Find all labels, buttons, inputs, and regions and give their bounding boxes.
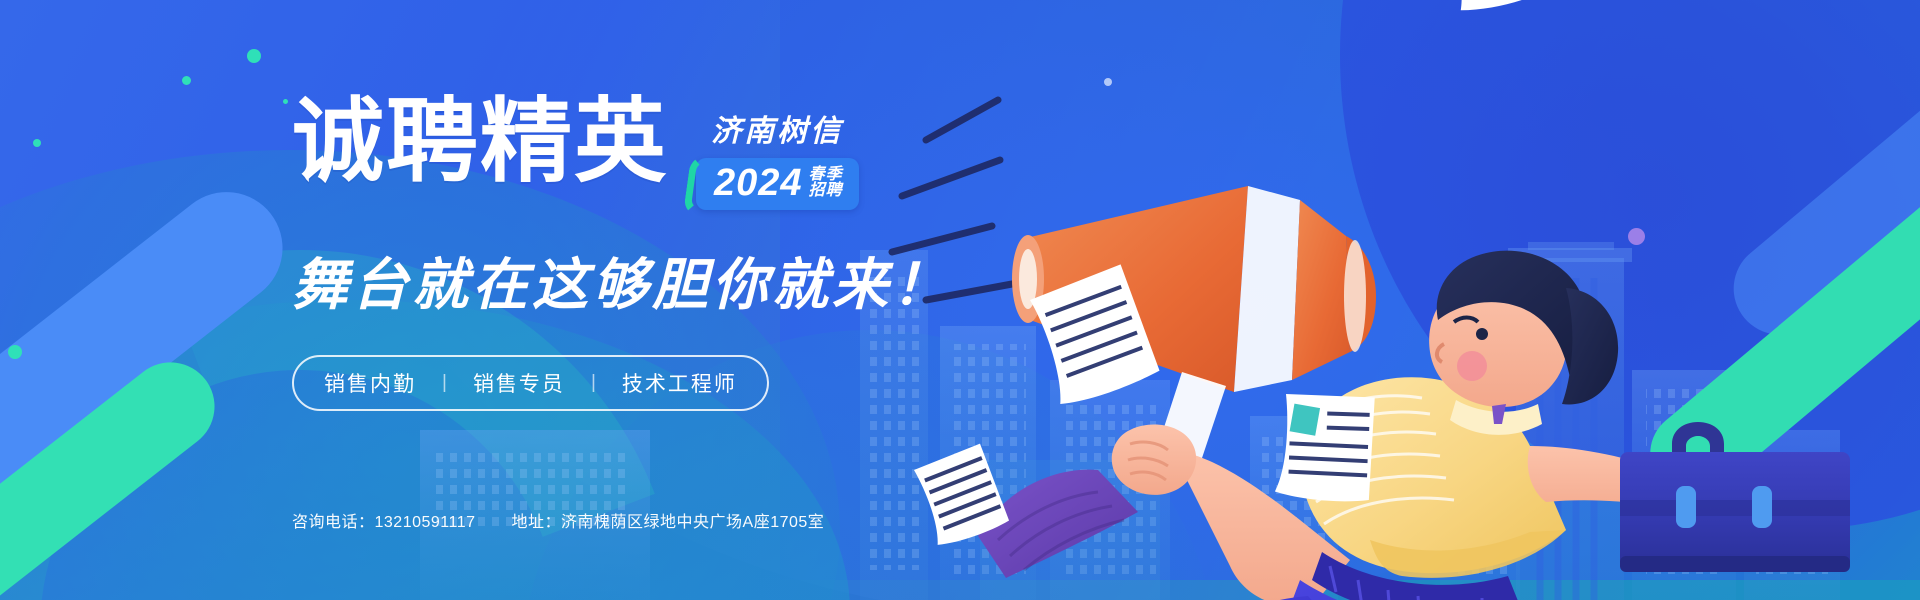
decor-bar-blue: [0, 169, 305, 600]
contact-phone: 咨询电话：13210591117: [292, 508, 476, 532]
contact-info: 咨询电话：13210591117 地址：济南槐荫区绿地中央广场A座1705室: [292, 508, 824, 532]
paper-icon-3: [1441, 0, 1548, 13]
briefcase-icon: [1620, 422, 1850, 572]
decor-bar-mint: [0, 345, 232, 600]
eye: [1476, 328, 1488, 340]
position-item-1[interactable]: 销售专员: [473, 368, 565, 398]
position-separator-1: |: [565, 372, 622, 394]
fist: [1112, 425, 1196, 495]
contact-address: 地址：济南槐荫区绿地中央广场A座1705室: [512, 508, 825, 532]
recruitment-banner: 诚聘精英 济南树信 2024 春季 招聘 舞台就在这够胆你就来！ 销售内勤 | …: [0, 0, 1920, 600]
cheek-blush: [1457, 351, 1487, 381]
illustration-businessman: [830, 0, 1920, 600]
decor-dot-teal-4: [33, 139, 41, 147]
positions-pill: 销售内勤 | 销售专员 | 技术工程师: [292, 355, 769, 411]
paper-icon-4: [1269, 382, 1387, 509]
decor-dot-teal-5: [8, 345, 22, 359]
decor-dot-teal-3: [283, 99, 288, 104]
position-item-2[interactable]: 技术工程师: [622, 368, 737, 398]
position-separator-0: |: [416, 372, 473, 394]
head: [1429, 251, 1618, 435]
decor-dot-teal-1: [247, 49, 261, 63]
position-item-0[interactable]: 销售内勤: [324, 368, 416, 398]
badge-year: 2024: [714, 164, 803, 202]
page-title: 诚聘精英: [292, 96, 668, 188]
decor-dot-teal-2: [182, 76, 191, 85]
speed-lines: [892, 100, 1012, 300]
